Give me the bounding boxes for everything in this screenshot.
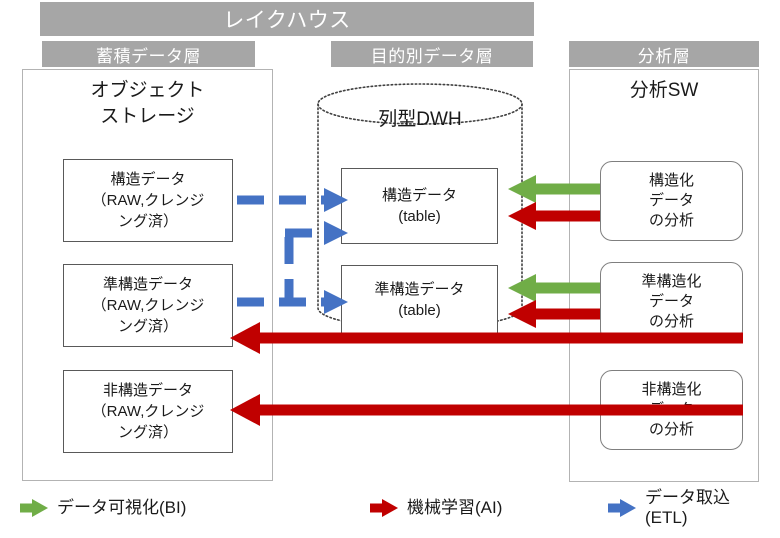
semistructured-table-line2: (table) xyxy=(374,300,464,321)
structured-raw-line2: （RAW,クレンジ xyxy=(92,190,205,211)
legend-label-etl: データ取込 (ETL) xyxy=(645,488,730,528)
tier-banner-purpose-layer: 目的別データ層 xyxy=(331,41,533,67)
object-storage-title-line1: オブジェクト xyxy=(23,78,272,104)
unstructured-analysis-line3: の分析 xyxy=(641,420,701,440)
semistructured-raw-line3: ング済） xyxy=(92,316,205,337)
structured-table-line2: (table) xyxy=(382,206,457,227)
semistructured-raw-line1: 準構造データ xyxy=(92,274,205,295)
legend-item-etl: データ取込 (ETL) xyxy=(606,488,730,528)
etl-arrow-icon xyxy=(606,498,638,518)
structured-raw-line3: ング済） xyxy=(92,211,205,232)
semistructured-table-line1: 準構造データ xyxy=(374,279,464,300)
object-storage-title-line2: ストレージ xyxy=(23,104,272,130)
data-box-unstructured-raw[interactable]: 非構造データ （RAW,クレンジ ング済） xyxy=(63,370,233,453)
data-box-semistructured-raw[interactable]: 準構造データ （RAW,クレンジ ング済） xyxy=(63,264,233,347)
columnar-dwh-label: 列型DWH xyxy=(317,104,523,131)
semistructured-analysis-line1: 準構造化 xyxy=(641,272,701,292)
ai-arrow-icon xyxy=(368,498,400,518)
object-storage-title: オブジェクト ストレージ xyxy=(23,78,272,130)
analysis-box-structured[interactable]: 構造化 データ の分析 xyxy=(600,161,743,241)
tier-banner-accumulation-layer: 蓄積データ層 xyxy=(42,41,255,67)
analysis-box-semistructured[interactable]: 準構造化 データ の分析 xyxy=(600,262,743,342)
unstructured-raw-line1: 非構造データ xyxy=(92,380,205,401)
structured-raw-line1: 構造データ xyxy=(92,169,205,190)
structured-analysis-line3: の分析 xyxy=(649,211,694,231)
analysis-box-unstructured[interactable]: 非構造化 データ の分析 xyxy=(600,370,743,450)
structured-table-line1: 構造データ xyxy=(382,185,457,206)
unstructured-raw-line2: （RAW,クレンジ xyxy=(92,401,205,422)
unstructured-analysis-line1: 非構造化 xyxy=(641,380,701,400)
lakehouse-title-banner: レイクハウス xyxy=(40,2,534,36)
tier-banner-analytics-layer: 分析層 xyxy=(569,41,759,67)
unstructured-analysis-line2: データ xyxy=(641,400,701,420)
structured-analysis-line2: データ xyxy=(649,191,694,211)
legend-item-ai: 機械学習(AI) xyxy=(368,498,502,518)
data-box-structured-raw[interactable]: 構造データ （RAW,クレンジ ング済） xyxy=(63,159,233,242)
semistructured-analysis-line3: の分析 xyxy=(641,312,701,332)
unstructured-raw-line3: ング済） xyxy=(92,422,205,443)
diagram-canvas: レイクハウス 蓄積データ層 目的別データ層 分析層 オブジェクト ストレージ 構… xyxy=(0,0,780,538)
structured-analysis-line1: 構造化 xyxy=(649,171,694,191)
legend-item-bi: データ可視化(BI) xyxy=(18,498,186,518)
legend-label-ai: 機械学習(AI) xyxy=(407,498,502,518)
analytics-sw-title: 分析SW xyxy=(570,78,758,104)
data-box-structured-table[interactable]: 構造データ (table) xyxy=(341,168,498,244)
bi-arrow-icon xyxy=(18,498,50,518)
legend-label-bi: データ可視化(BI) xyxy=(57,498,186,518)
semistructured-analysis-line2: データ xyxy=(641,292,701,312)
semistructured-raw-line2: （RAW,クレンジ xyxy=(92,295,205,316)
data-box-semistructured-table[interactable]: 準構造データ (table) xyxy=(341,265,498,335)
